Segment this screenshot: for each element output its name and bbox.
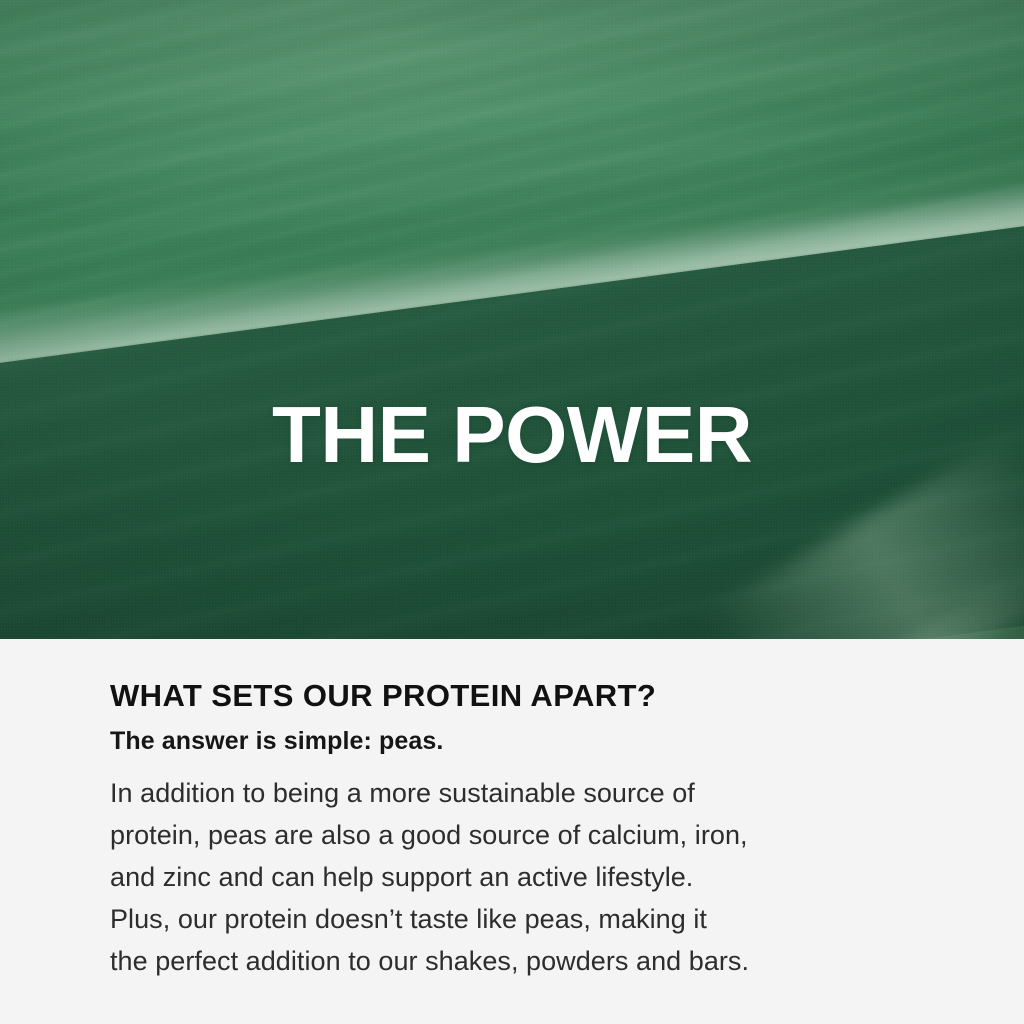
hero-headline-line-1: THE POWER — [0, 394, 1024, 475]
hero-headline: THE POWER OF PEAS — [0, 232, 1024, 639]
section-body-paragraph: In addition to being a more sustainable … — [110, 772, 940, 982]
product-info-card: THE POWER OF PEAS WHAT SETS OUR PROTEIN … — [0, 0, 1024, 1024]
body-line: and zinc and can help support an active … — [110, 856, 940, 898]
body-line: Plus, our protein doesn’t taste like pea… — [110, 898, 940, 940]
body-line: protein, peas are also a good source of … — [110, 814, 940, 856]
content-inner: WHAT SETS OUR PROTEIN APART? The answer … — [110, 679, 940, 982]
hero-banner: THE POWER OF PEAS — [0, 0, 1024, 639]
section-subheading: The answer is simple: peas. — [110, 728, 940, 756]
section-heading: WHAT SETS OUR PROTEIN APART? — [110, 679, 940, 713]
body-line: In addition to being a more sustainable … — [110, 772, 940, 814]
content-panel: WHAT SETS OUR PROTEIN APART? The answer … — [0, 639, 1024, 1024]
body-line: the perfect addition to our shakes, powd… — [110, 940, 940, 982]
